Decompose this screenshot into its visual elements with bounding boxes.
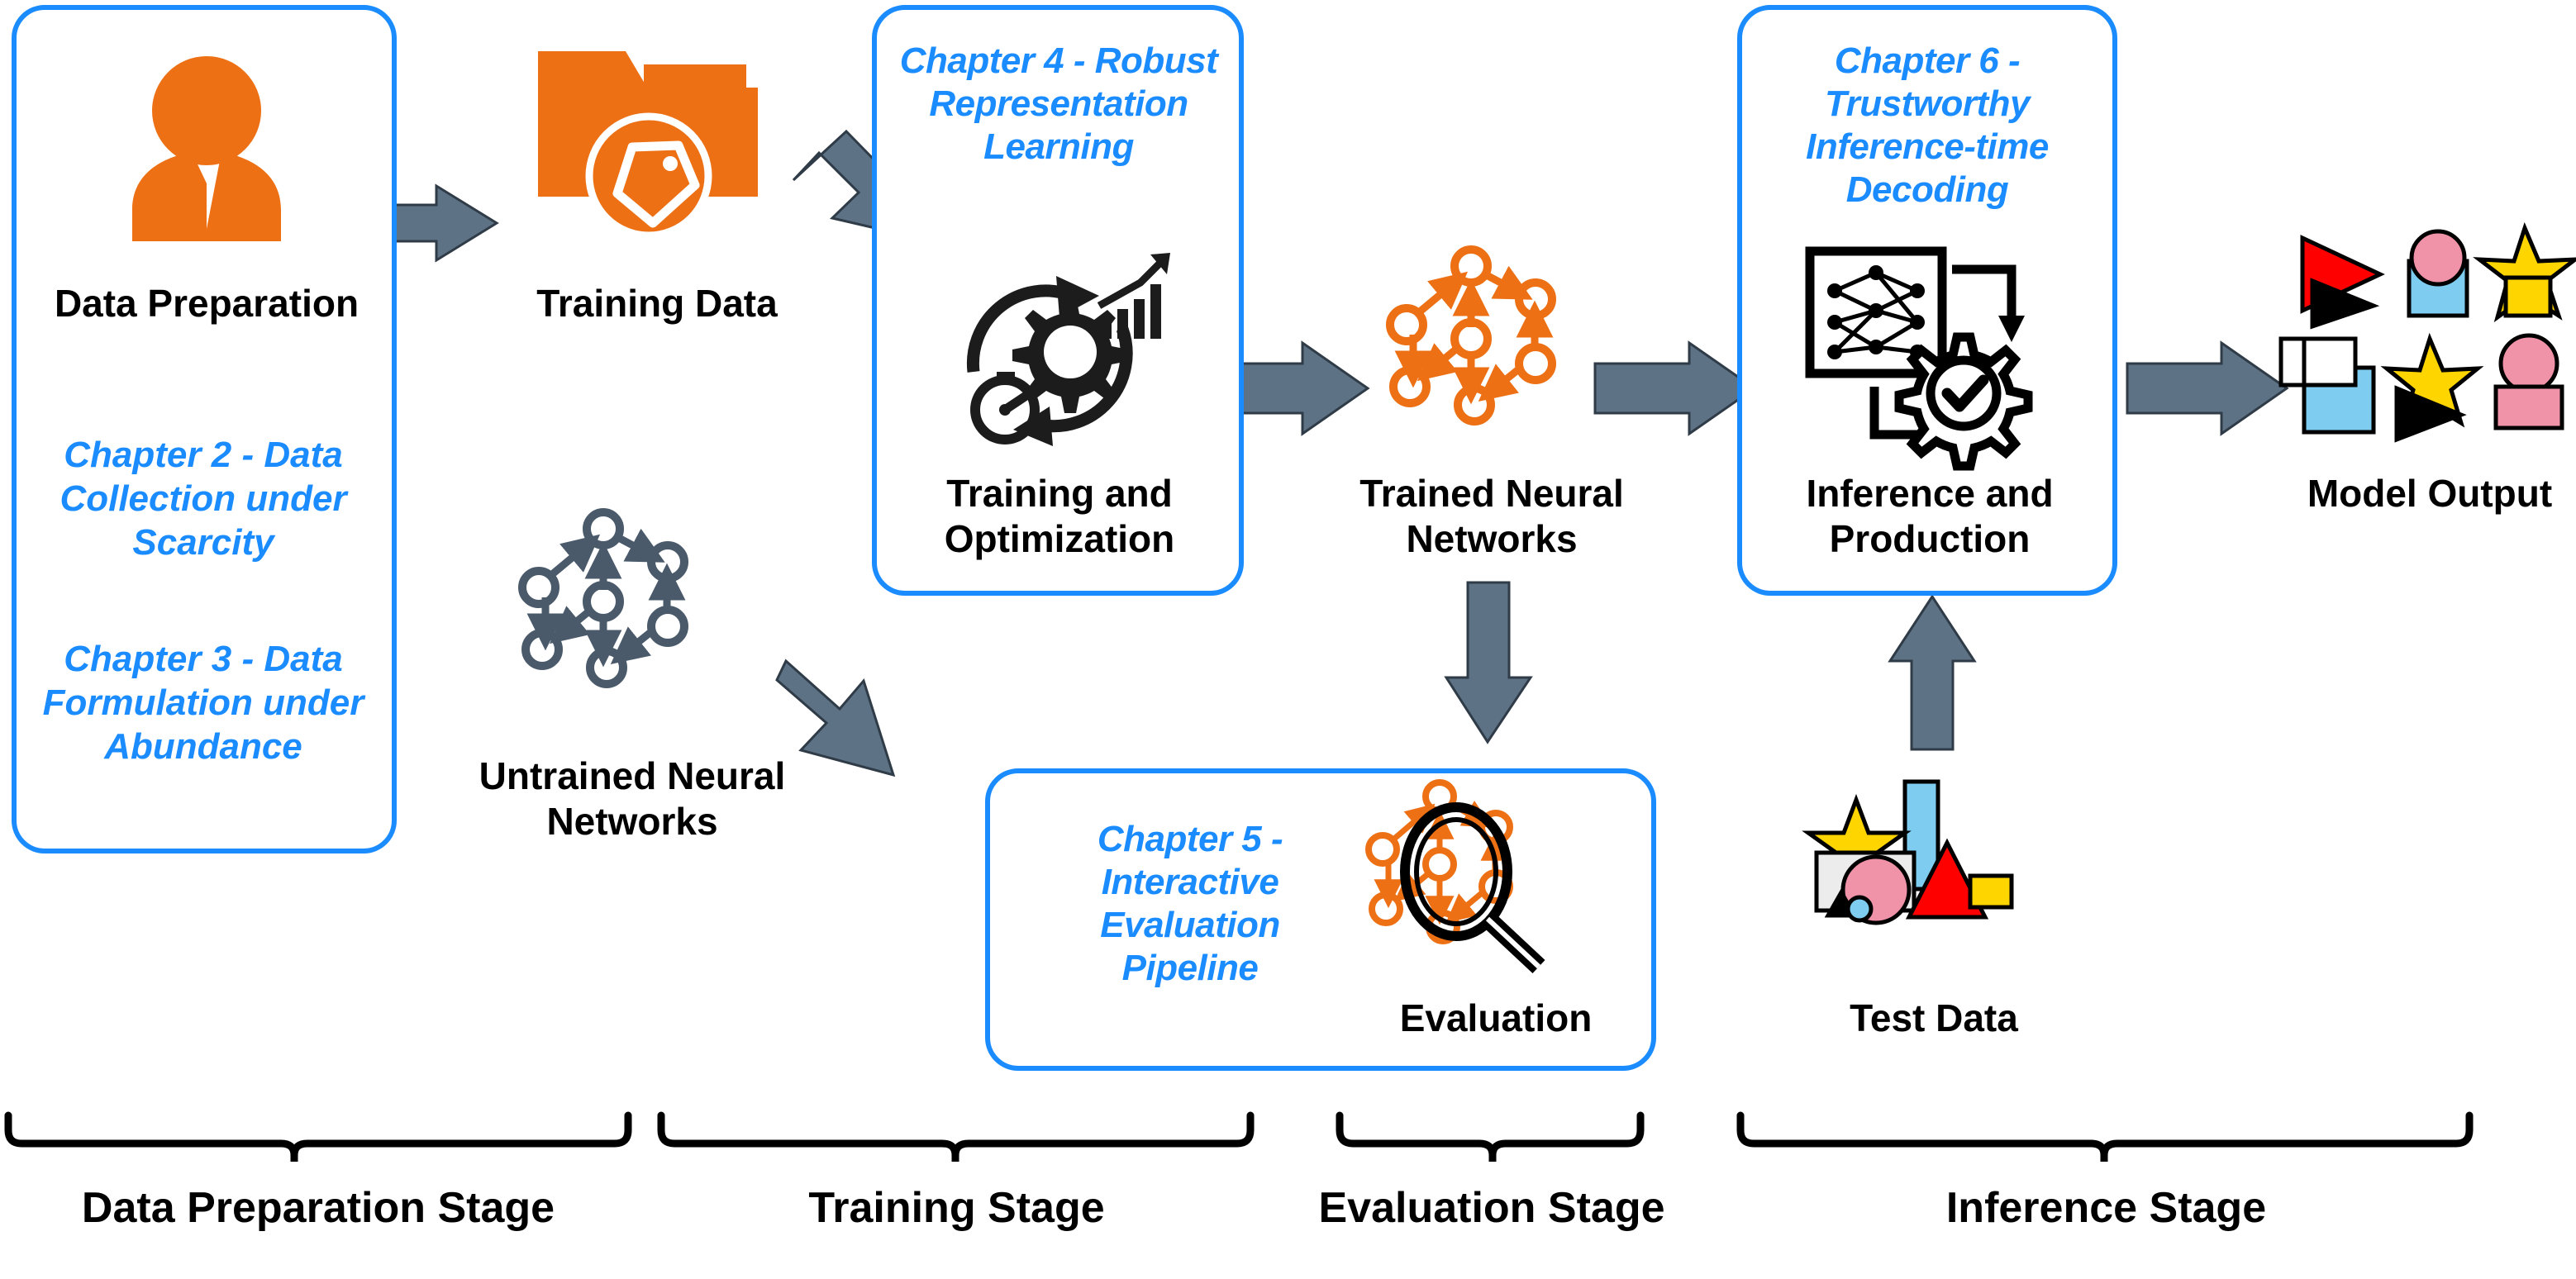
training-optimization-label: Training and Optimization (886, 471, 1233, 562)
stage-label-inference: Inference Stage (1740, 1183, 2472, 1233)
stage-label-data-preparation: Data Preparation Stage (0, 1183, 636, 1233)
stage-label-training: Training Stage (661, 1183, 1252, 1233)
chapter4-title: Chapter 4 - Robust Representation Learni… (888, 40, 1229, 169)
stage-brackets (0, 1099, 2576, 1190)
chapter2-text: Chapter 2 - Data Collection under Scarci… (20, 434, 387, 564)
diagram-canvas: Data Preparation Chapter 2 - Data Collec… (0, 0, 2576, 1279)
chapter6-title: Chapter 6 - Trustworthy Inference-time D… (1750, 40, 2104, 212)
arrow-trained-nn-to-chapter6 (1595, 343, 1755, 434)
arrow-chapter6-to-model-output (2127, 343, 2287, 434)
trained-nn-label: Trained Neural Networks (1314, 471, 1669, 562)
shapes-cluster-icon (1785, 777, 2041, 983)
arrow-test-data-to-chapter6 (1890, 597, 1974, 749)
neural-network-orange-icon (1372, 248, 1645, 496)
chapter5-title: Chapter 5 - Interactive Evaluation Pipel… (1066, 818, 1314, 990)
chapter3-text: Chapter 3 - Data Formulation under Abund… (20, 638, 387, 768)
model-output-label: Model Output (2306, 471, 2554, 516)
evaluation-label: Evaluation (1364, 996, 1628, 1041)
shapes-grid-icon (2281, 223, 2576, 446)
stage-label-evaluation: Evaluation Stage (1277, 1183, 1707, 1233)
untrained-nn-label: Untrained Neural Networks (438, 754, 826, 844)
test-data-label: Test Data (1802, 996, 2066, 1041)
arrow-trained-nn-to-evaluation (1446, 582, 1531, 742)
neural-network-gray-icon (504, 511, 769, 758)
data-preparation-label: Data Preparation (17, 281, 397, 326)
training-data-label: Training Data (512, 281, 802, 326)
inference-production-label: Inference and Production (1748, 471, 2112, 562)
folder-tag-icon (533, 40, 781, 254)
